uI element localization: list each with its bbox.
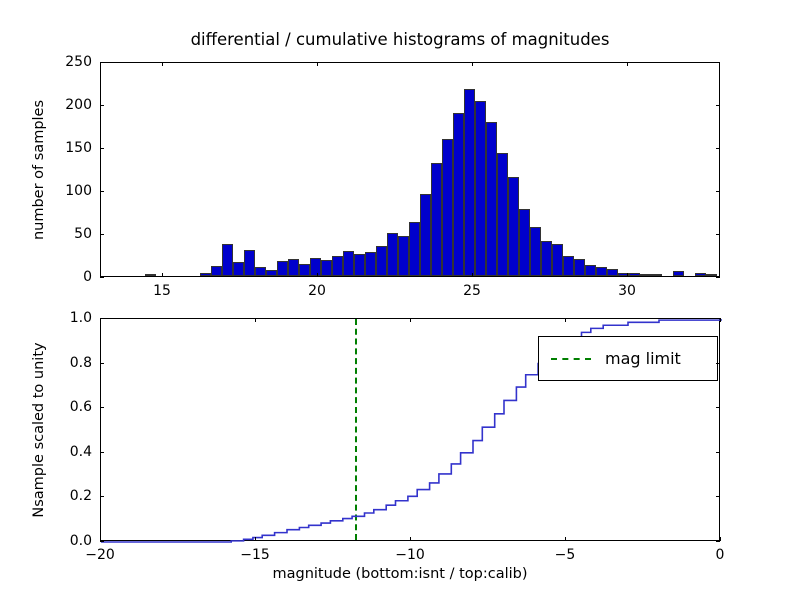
bottom-panel-x-tick-label: −5 <box>535 547 595 563</box>
bottom-panel-plot-area: mag limit <box>100 318 720 541</box>
top-panel-x-tick <box>162 273 163 277</box>
bottom-panel-x-tick <box>565 537 566 541</box>
bottom-panel-x-tick <box>410 537 411 541</box>
histogram-bar <box>354 254 365 276</box>
bottom-panel-y-tick <box>716 452 720 453</box>
top-panel-y-tick-label: 0 <box>46 269 92 285</box>
top-panel-y-tick-label: 50 <box>46 226 92 242</box>
histogram-bar <box>607 269 618 276</box>
legend-mag-limit-swatch <box>551 358 591 360</box>
bottom-panel-y-tick-label: 0.2 <box>46 488 92 504</box>
bottom-panel-y-tick-label: 1.0 <box>46 310 92 326</box>
histogram-bar <box>596 267 607 276</box>
bottom-panel-x-tick-label: −15 <box>225 547 285 563</box>
legend: mag limit <box>538 336 718 381</box>
bottom-panel-y-axis-label: Nsample scaled to unity <box>31 315 47 545</box>
histogram-bar <box>420 194 431 276</box>
histogram-bar <box>640 274 651 276</box>
histogram-bar <box>200 273 211 276</box>
histogram-bar <box>222 244 233 276</box>
histogram-bar <box>321 260 332 276</box>
bottom-panel-y-tick <box>716 363 720 364</box>
histogram-bar <box>541 241 552 276</box>
bottom-panel-y-tick-label: 0.4 <box>46 444 92 460</box>
histogram-bar <box>695 273 706 276</box>
top-panel-y-tick <box>716 105 720 106</box>
top-panel-y-tick <box>100 277 104 278</box>
top-panel-y-tick-label: 150 <box>46 140 92 156</box>
top-panel-y-tick-label: 100 <box>46 183 92 199</box>
top-panel-y-tick <box>100 234 104 235</box>
top-panel-x-tick <box>472 273 473 277</box>
top-panel-x-tick-label: 20 <box>287 283 347 299</box>
top-panel-x-tick <box>317 62 318 66</box>
top-panel-x-tick-label: 30 <box>597 283 657 299</box>
histogram-bar <box>343 251 354 276</box>
bottom-panel-x-tick <box>720 318 721 322</box>
top-panel-y-tick <box>100 148 104 149</box>
bottom-panel-y-tick <box>100 363 104 364</box>
top-panel-y-tick-label: 250 <box>46 54 92 70</box>
bottom-panel-x-tick <box>255 318 256 322</box>
figure-title: differential / cumulative histograms of … <box>0 30 800 49</box>
top-panel-x-tick <box>472 62 473 66</box>
histogram-bar <box>519 209 530 276</box>
top-panel-y-tick <box>716 234 720 235</box>
histogram-bar <box>277 261 288 276</box>
top-panel-y-tick <box>716 62 720 63</box>
histogram-bar <box>145 274 156 276</box>
bottom-panel-y-tick <box>716 541 720 542</box>
histogram-bar <box>266 270 277 276</box>
bottom-panel-x-tick <box>100 537 101 541</box>
bottom-panel-y-tick-label: 0.6 <box>46 399 92 415</box>
top-panel-y-tick <box>716 191 720 192</box>
top-panel-y-tick <box>100 191 104 192</box>
histogram-bar <box>706 274 717 276</box>
top-panel-y-tick <box>100 62 104 63</box>
histogram-bar <box>376 246 387 276</box>
histogram-bar <box>629 273 640 276</box>
histogram-bar <box>486 122 497 276</box>
histogram-bar <box>442 139 453 276</box>
histogram-bar <box>508 177 519 276</box>
bottom-panel-y-tick <box>716 496 720 497</box>
top-panel-y-tick-label: 200 <box>46 97 92 113</box>
histogram-bar <box>365 252 376 276</box>
bottom-panel-x-tick <box>255 537 256 541</box>
bottom-panel-y-tick <box>100 452 104 453</box>
legend-mag-limit-label: mag limit <box>605 349 681 368</box>
histogram-bar <box>387 233 398 276</box>
top-panel-x-tick <box>627 273 628 277</box>
bottom-panel-y-tick <box>100 541 104 542</box>
histogram-bar <box>244 250 255 276</box>
bottom-panel-x-tick <box>720 537 721 541</box>
bottom-panel-x-tick-label: −10 <box>380 547 440 563</box>
histogram-bar <box>475 101 486 276</box>
figure: differential / cumulative histograms of … <box>0 0 800 600</box>
top-panel-y-tick <box>100 105 104 106</box>
histogram-bar <box>398 236 409 276</box>
bottom-panel-y-tick <box>716 407 720 408</box>
bottom-panel-x-tick <box>565 318 566 322</box>
top-panel-y-tick <box>716 148 720 149</box>
histogram-bar <box>574 259 585 276</box>
histogram-bar <box>552 244 563 276</box>
x-axis-label: magnitude (bottom:isnt / top:calib) <box>0 566 800 582</box>
bottom-panel-x-tick-label: 0 <box>690 547 750 563</box>
bottom-panel-x-tick <box>100 318 101 322</box>
histogram-bar <box>585 265 596 276</box>
histogram-bar <box>288 259 299 276</box>
top-panel-plot-area <box>100 62 720 277</box>
bottom-panel-x-tick-label: −20 <box>70 547 130 563</box>
bottom-panel-x-tick <box>410 318 411 322</box>
histogram-bar <box>431 163 442 276</box>
top-panel-x-tick <box>162 62 163 66</box>
top-panel-x-tick-label: 25 <box>442 283 502 299</box>
histogram-bar <box>651 274 662 276</box>
histogram-bar <box>332 256 343 276</box>
histogram-bar <box>409 222 420 276</box>
histogram-bar <box>255 267 266 276</box>
top-panel-y-tick <box>716 277 720 278</box>
histogram-bar <box>299 264 310 276</box>
bottom-panel-y-tick-label: 0.8 <box>46 355 92 371</box>
histogram-bar <box>233 262 244 276</box>
top-panel-y-axis-label: number of samples <box>31 70 47 270</box>
histogram-bar <box>211 266 222 276</box>
top-panel-x-tick <box>627 62 628 66</box>
histogram-bar <box>453 113 464 276</box>
top-panel-x-tick <box>317 273 318 277</box>
top-panel-x-tick-label: 15 <box>132 283 192 299</box>
histogram-bar <box>497 153 508 276</box>
histogram-bar <box>464 89 475 276</box>
histogram-bar <box>310 258 321 276</box>
bottom-panel-y-tick <box>100 407 104 408</box>
bottom-panel-y-tick <box>100 496 104 497</box>
histogram-bar <box>563 256 574 276</box>
histogram-bar <box>530 227 541 276</box>
histogram-bar <box>673 271 684 276</box>
